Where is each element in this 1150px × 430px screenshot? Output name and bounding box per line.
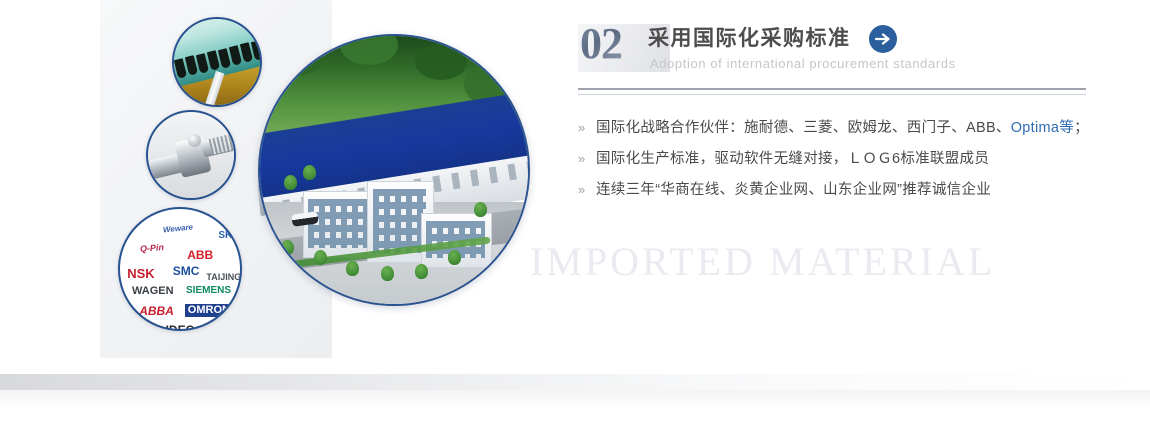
brand-logo-siemens: SIEMENS — [186, 286, 231, 296]
brand-logo-taijing: TAIJING — [206, 273, 241, 282]
quality-assurance-photo: WewareSKOQ-PinABBNSKSMCTAIJINGWAGENSIEME… — [118, 207, 242, 331]
landscape-tree — [448, 250, 461, 265]
section-header: 02 采用国际化采购标准 Adoption of international p… — [578, 0, 1098, 88]
bullet-text-2: 国际化生产标准，驱动软件无缝对接，ＬＯＧ6标准联盟成员 — [596, 147, 989, 171]
brand-logo-smc: SMC — [173, 265, 200, 277]
brand-logo-idec: IDEC — [166, 324, 195, 331]
feature-bullet-list: » 国际化战略合作伙伴：施耐德、三菱、欧姆龙、西门子、ABB、Optima等； … — [578, 116, 1098, 209]
list-item: » 连续三年“华商在线、炎黄企业网、山东企业网”推荐诚信企业 — [578, 178, 1098, 209]
section-number: 02 — [580, 22, 622, 66]
bullet-1-highlight: Optima等 — [1011, 120, 1074, 136]
landscape-tree — [281, 240, 294, 255]
brand-logo-wagen: WAGEN — [132, 286, 174, 297]
list-item: » 国际化生产标准，驱动软件无缝对接，ＬＯＧ6标准联盟成员 — [578, 147, 1098, 178]
landscape-tree — [314, 250, 327, 265]
factory-aerial-photo — [258, 34, 530, 306]
bottom-band-sheen — [0, 374, 1150, 390]
watermark-text: IMPORTED MATERIAL — [530, 238, 1130, 285]
office-windows-center — [373, 189, 427, 253]
landscape-tree — [415, 264, 428, 279]
section-title: 采用国际化采购标准 — [648, 22, 851, 52]
header-divider — [578, 88, 1086, 95]
brand-logo-cluster: WewareSKOQ-PinABBNSKSMCTAIJINGWAGENSIEME… — [120, 209, 240, 329]
landscape-tree — [346, 261, 359, 276]
brand-logo-nsk: NSK — [127, 267, 154, 280]
brand-logo-omron: OMRON — [185, 304, 233, 317]
brand-logo-sko: SKO — [218, 231, 240, 241]
brand-logo-abba: ABBA — [139, 305, 174, 317]
landscape-tree — [303, 165, 316, 180]
landscape-tree — [381, 266, 394, 281]
landscape-tree — [284, 175, 297, 190]
bullet-1-lead: 国际化战略合作伙伴：施耐德、三菱、欧姆龙、西门子、ABB、 — [596, 120, 1011, 136]
european-standard-photo — [146, 110, 236, 200]
brand-logo-weware: Weware — [163, 223, 194, 234]
office-windows-left — [308, 199, 372, 247]
brand-logo-q-pin: Q-Pin — [140, 243, 165, 254]
brand-logo-abb: ABB — [187, 249, 213, 261]
bullet-1-tail: ； — [1074, 120, 1089, 136]
precision-detail-photo — [172, 17, 262, 107]
section-subtitle: Adoption of international procurement st… — [650, 56, 956, 71]
bullet-text-1: 国际化战略合作伙伴：施耐德、三菱、欧姆龙、西门子、ABB、Optima等； — [596, 116, 1089, 140]
ballscrew-end-cap — [188, 134, 201, 147]
chevron-bullet-icon: » — [578, 116, 596, 140]
chevron-bullet-icon: » — [578, 147, 596, 171]
bullet-text-3: 连续三年“华商在线、炎黄企业网、山东企业网”推荐诚信企业 — [596, 178, 991, 202]
chevron-bullet-icon: » — [578, 178, 596, 202]
arrow-right-circle-icon[interactable] — [868, 24, 898, 54]
list-item: » 国际化战略合作伙伴：施耐德、三菱、欧姆龙、西门子、ABB、Optima等； — [578, 116, 1098, 147]
